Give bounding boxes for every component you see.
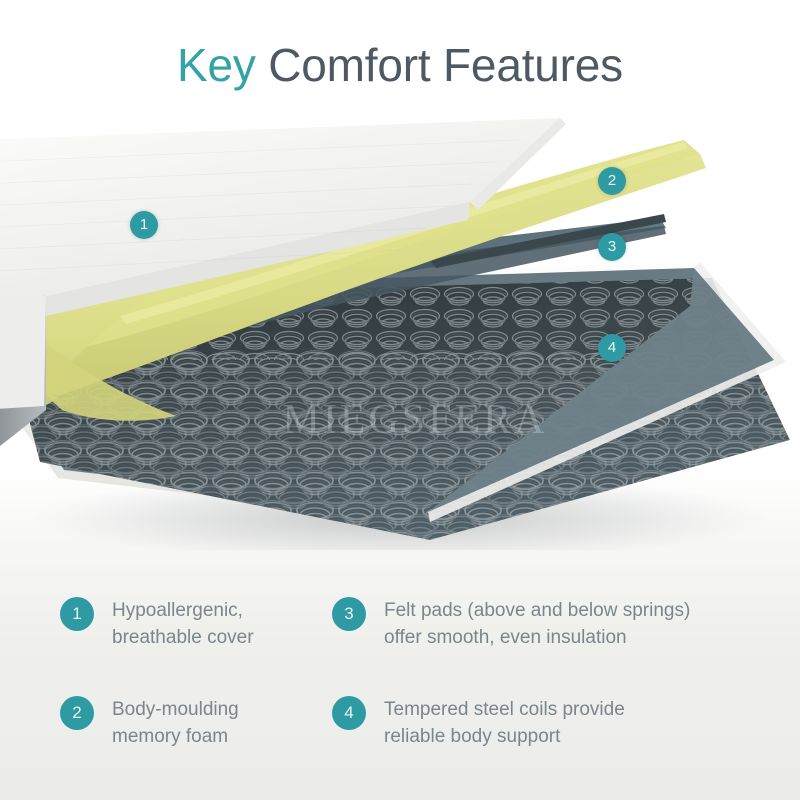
infographic-root: Key Comfort Features (0, 0, 800, 800)
legend: 1 Hypoallergenic, breathable cover 3 Fel… (60, 595, 750, 751)
mattress-cutaway-illustration (0, 110, 800, 550)
legend-text-2: Body-moulding memory foam (112, 694, 239, 751)
callout-badge-2[interactable]: 2 (598, 167, 626, 195)
callout-badge-1[interactable]: 1 (130, 211, 158, 239)
legend-text-3: Felt pads (above and below springs) offe… (384, 595, 690, 652)
legend-item-1: 1 Hypoallergenic, breathable cover (60, 595, 332, 652)
legend-item-4: 4 Tempered steel coils provide reliable … (332, 694, 750, 751)
legend-badge-4: 4 (332, 696, 366, 730)
page-title-rest: Comfort Features (256, 39, 623, 91)
legend-text-1: Hypoallergenic, breathable cover (112, 595, 254, 652)
legend-text-4: Tempered steel coils provide reliable bo… (384, 694, 625, 751)
legend-badge-2: 2 (60, 696, 94, 730)
page-title: Key Comfort Features (0, 40, 800, 91)
callout-badge-3[interactable]: 3 (598, 233, 626, 261)
legend-item-2: 2 Body-moulding memory foam (60, 694, 332, 751)
page-title-container: Key Comfort Features (0, 40, 800, 91)
legend-badge-3: 3 (332, 597, 366, 631)
legend-item-3: 3 Felt pads (above and below springs) of… (332, 595, 750, 652)
page-title-highlight: Key (177, 39, 256, 91)
callout-badge-4[interactable]: 4 (598, 334, 626, 362)
legend-badge-1: 1 (60, 597, 94, 631)
